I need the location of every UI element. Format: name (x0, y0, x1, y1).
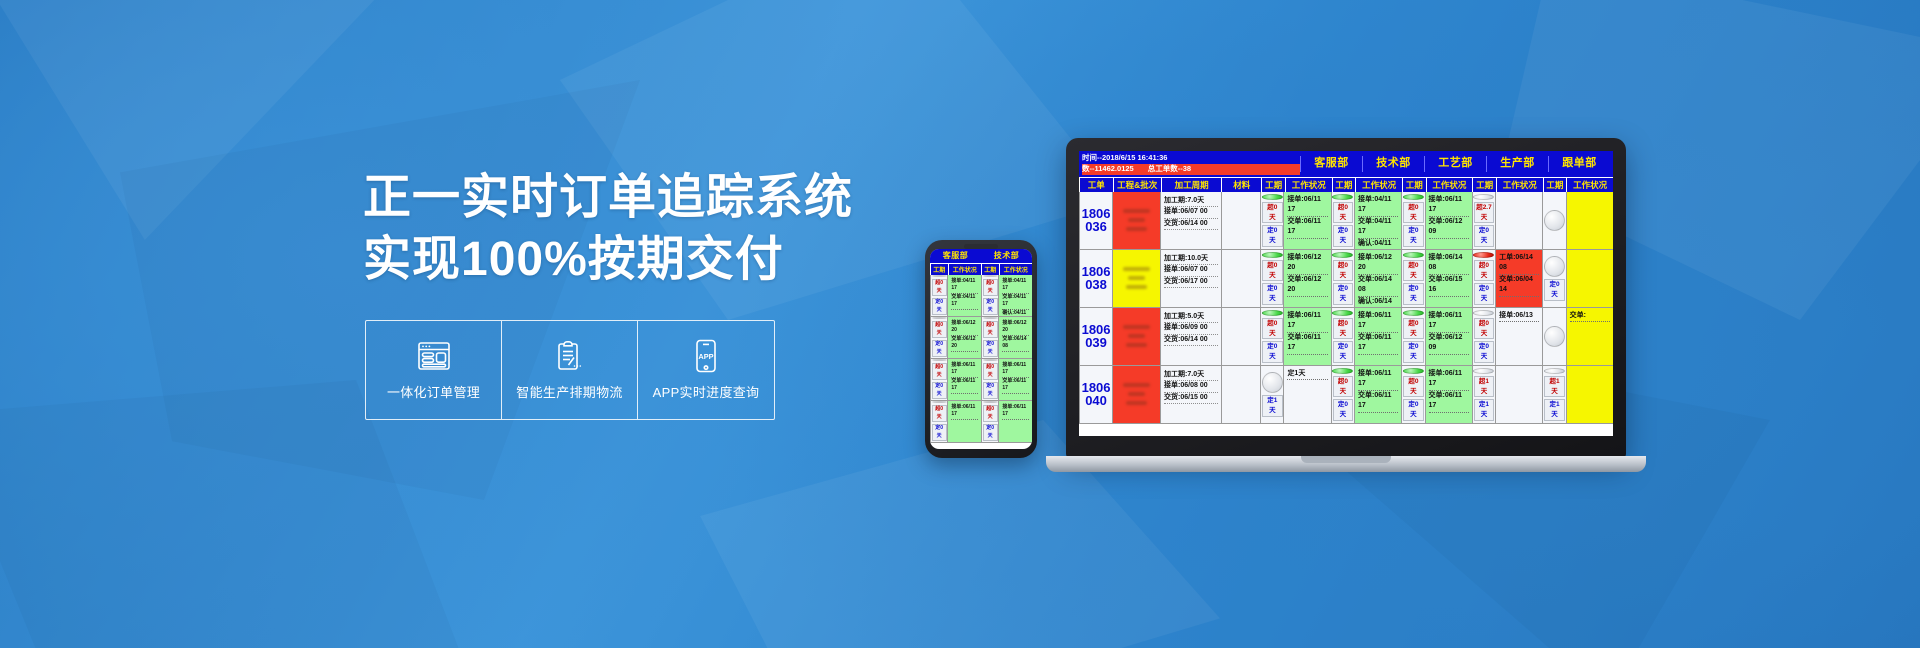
duration-cell[interactable]: 超0天定0天 (1260, 308, 1283, 365)
status-cell[interactable]: 接单:06/13 (1495, 308, 1542, 365)
redacted-line (1123, 209, 1149, 213)
phone-mockup: 客服部技术部 工期工作状况工期工作状况 超0天定0天接单:04/11 17交单:… (925, 240, 1037, 458)
status-indicator-g (983, 317, 998, 319)
overdue-badge: 超0天 (1333, 260, 1353, 282)
planned-badge: 定0天 (1333, 341, 1353, 363)
status-cell[interactable]: 接单:04/11 17交单:04/11 17确认:04/11 17 (998, 275, 1032, 316)
status-cell[interactable]: 工单:06/14 08交单:06/04 14 (1495, 250, 1542, 307)
cycle-line: 接单:06/07 00 (1164, 265, 1218, 277)
mobile-app-icon: APP (694, 339, 718, 373)
planned-badge: 定0天 (983, 424, 998, 441)
status-indicator-g (983, 401, 998, 403)
overdue-badge: 超0天 (1333, 376, 1353, 398)
status-cell[interactable]: 接单:06/11 17 (998, 401, 1032, 442)
department-title: 生产部 (1486, 156, 1548, 172)
overdue-badge: 超0天 (1262, 260, 1282, 282)
status-line: 交单:06/12 09 (1429, 333, 1469, 355)
status-line: 接单:06/12 20 (1358, 253, 1398, 275)
status-indicator-g (1262, 310, 1283, 316)
phone-body: 客服部技术部 工期工作状况工期工作状况 超0天定0天接单:04/11 17交单:… (925, 240, 1037, 458)
cycle-cell[interactable]: 加工期:5.0天接单:06/09 00交货:06/14 00 (1160, 308, 1221, 365)
project-name-redacted (1118, 261, 1156, 295)
cycle-line: 加工期:10.0天 (1164, 254, 1218, 266)
duration-cell[interactable]: 超0天定0天 (981, 275, 998, 316)
status-line: 交单:06/14 08 (1358, 275, 1398, 297)
status-cell[interactable] (1495, 192, 1542, 249)
status-line: 交单:04/11 17 (1358, 217, 1398, 239)
duration-cell[interactable]: 超0天定0天 (930, 401, 947, 442)
project-batch-cell[interactable] (1112, 192, 1160, 249)
overdue-badge: 超1天 (1474, 376, 1494, 398)
phone-column-header-duration: 工期 (930, 264, 948, 275)
planned-badge: 定0天 (1262, 283, 1282, 305)
redacted-line (1126, 285, 1148, 289)
status-line: 交单:06/11 17 (1287, 217, 1327, 239)
material-cell[interactable] (1221, 250, 1261, 307)
planned-badge: 定0天 (1403, 283, 1423, 305)
overdue-badge: 超0天 (1262, 318, 1282, 340)
department-title: 客服部 (1300, 156, 1362, 172)
cycle-line: 加工期:7.0天 (1164, 196, 1218, 208)
overdue-badge: 超0天 (983, 363, 998, 380)
status-indicator-g (1332, 194, 1353, 200)
status-line: 确认:06/14 08 (1358, 297, 1398, 307)
work-order-suffix: 038 (1085, 278, 1107, 292)
duration-cell[interactable]: 超0天定0天 (1331, 192, 1354, 249)
status-cell[interactable]: 接单:04/11 17交单:04/11 17确认:04/11 17 (1354, 192, 1401, 249)
table-body: 1806036加工期:7.0天接单:06/07 00交货:06/14 00超0天… (1079, 192, 1613, 436)
duration-cell[interactable]: 超0天定0天 (1401, 192, 1424, 249)
planned-badge: 定0天 (1333, 283, 1353, 305)
column-header-row: 工单工程&批次加工周期材料工期工作状况工期工作状况工期工作状况工期工作状况工期工… (1079, 177, 1613, 192)
status-cell[interactable] (1495, 366, 1542, 423)
duration-cell[interactable]: 定1天 (1260, 366, 1283, 423)
status-line: 接单:04/11 17 (1002, 278, 1029, 294)
phone-column-header-status: 工作状况 (999, 264, 1033, 275)
status-line: 交单:06/12 20 (1287, 275, 1327, 297)
column-header-material: 材料 (1221, 178, 1261, 192)
phone-dashboard: 客服部技术部 工期工作状况工期工作状况 超0天定0天接单:04/11 17交单:… (930, 249, 1032, 449)
department-title: 跟单部 (1548, 156, 1610, 172)
planned-badge: 定0天 (1403, 341, 1423, 363)
overdue-badge: 超0天 (932, 279, 947, 296)
phone-table-row[interactable]: 超0天定0天接单:04/11 17交单:04/11 17超0天定0天接单:04/… (930, 275, 1032, 317)
cycle-line: 接单:06/08 00 (1164, 381, 1218, 393)
status-indicator-w (1473, 310, 1494, 316)
laptop-lid: 时间--2018/6/15 16:41:36 数--11462.0125 总工单… (1066, 138, 1626, 458)
cycle-line: 加工期:7.0天 (1164, 370, 1218, 382)
redacted-line (1123, 383, 1149, 387)
overdue-badge: 超0天 (1403, 318, 1423, 340)
work-order-prefix: 1806 (1082, 381, 1111, 395)
overdue-badge: 超0天 (1474, 318, 1494, 340)
status-cell[interactable]: 交单: (1566, 308, 1613, 365)
status-line: 交单:06/11 17 (1287, 333, 1327, 355)
duration-cell[interactable]: 超0天定0天 (930, 275, 947, 316)
app-badge-text: APP (698, 352, 713, 361)
status-cell[interactable]: 接单:06/11 17交单:06/12 09 (1425, 192, 1472, 249)
status-line: 接单:06/12 20 (951, 320, 978, 336)
redacted-line (1128, 218, 1145, 222)
order-tracking-dashboard: 时间--2018/6/15 16:41:36 数--11462.0125 总工单… (1079, 151, 1613, 436)
feature-label: APP实时进度查询 (653, 382, 760, 401)
column-header-status: 工作状况 (1496, 178, 1543, 192)
feature-item-smart-scheduling[interactable]: 智能生产排期物流 (502, 321, 638, 419)
status-cell[interactable]: 接单:06/12 20交单:06/14 08确认:06/14 08 (1354, 250, 1401, 307)
redacted-line (1126, 343, 1148, 347)
status-cell[interactable]: 接单:06/12 20交单:06/12 20 (947, 317, 981, 358)
overdue-badge: 超0天 (983, 279, 998, 296)
status-indicator-g (1403, 310, 1424, 316)
status-cell[interactable]: 接单:06/11 17交单:06/11 17 (1283, 192, 1330, 249)
cycle-line: 交货:06/15 00 (1164, 393, 1218, 405)
status-line: 接单:06/11 17 (1002, 362, 1029, 378)
overdue-badge: 超0天 (1333, 318, 1353, 340)
duration-cell[interactable]: 超0天定0天 (981, 317, 998, 358)
planned-badge: 定1天 (1474, 399, 1494, 421)
status-cell[interactable]: 接单:06/11 17交单:06/11 17 (1283, 308, 1330, 365)
status-line: 接单:06/11 17 (1358, 311, 1398, 333)
status-line: 交单:06/11 17 (1429, 391, 1469, 413)
phone-table-row[interactable]: 超0天定0天接单:06/11 17交单:06/11 17超0天定0天接单:06/… (930, 359, 1032, 401)
planned-badge: 定0天 (983, 382, 998, 399)
duration-cell[interactable]: 超0天定0天 (1331, 366, 1354, 423)
status-cell[interactable]: 接单:06/11 17 (947, 401, 981, 442)
status-line: 交单:06/11 17 (1358, 391, 1398, 413)
status-indicator-g (1403, 368, 1424, 374)
status-cell[interactable]: 接单:06/12 20交单:06/12 20 (1283, 250, 1330, 307)
planned-badge: 定0天 (932, 382, 947, 399)
status-cell[interactable] (1566, 366, 1613, 423)
status-indicator-y (1544, 256, 1565, 277)
status-cell[interactable] (1566, 250, 1613, 307)
status-indicator-g (1332, 310, 1353, 316)
status-line: 接单:06/11 17 (1287, 195, 1327, 217)
column-header-duration: 工期 (1332, 178, 1356, 192)
status-cell[interactable] (1566, 192, 1613, 249)
overdue-badge: 超0天 (932, 363, 947, 380)
phone-table-row[interactable]: 超0天定0天接单:06/12 20交单:06/12 20超0天定0天接单:06/… (930, 317, 1032, 359)
phone-column-header-duration: 工期 (981, 264, 999, 275)
project-batch-cell[interactable] (1112, 366, 1160, 423)
redacted-line (1126, 227, 1148, 231)
cycle-line: 接单:06/09 00 (1164, 323, 1218, 335)
planned-badge: 定1天 (1544, 399, 1564, 421)
status-line: 接单:06/12 20 (1002, 320, 1029, 336)
status-line: 接单:06/11 17 (1429, 369, 1469, 391)
work-order-cell[interactable]: 1806039 (1079, 308, 1112, 365)
promo-banner: 正一实时订单追踪系统 实现100%按期交付 一体化订单管理 (0, 0, 1920, 648)
work-order-cell[interactable]: 1806038 (1079, 250, 1112, 307)
status-line: 交单:06/15 16 (1429, 275, 1469, 297)
status-indicator-y (1544, 326, 1565, 347)
department-row: 客服部技术部工艺部生产部跟单部 (1300, 153, 1610, 175)
work-order-prefix: 1806 (1082, 207, 1111, 221)
redacted-line (1128, 334, 1145, 338)
duration-cell[interactable]: 超1天定1天 (1472, 366, 1495, 423)
cycle-cell[interactable]: 加工期:7.0天接单:06/08 00交货:06/15 00 (1160, 366, 1221, 423)
project-name-redacted (1118, 319, 1156, 353)
redacted-line (1123, 267, 1149, 271)
status-line: 交单:04/11 17 (1002, 294, 1029, 310)
duration-cell[interactable]: 超0天定0天 (981, 401, 998, 442)
status-line: 交单:06/11 17 (951, 378, 978, 394)
planned-badge: 定0天 (1333, 399, 1353, 421)
cycle-line: 接单:06/07 00 (1164, 207, 1218, 219)
duration-cell[interactable]: 超0天定0天 (981, 359, 998, 400)
duration-cell[interactable]: 超0天定0天 (1260, 250, 1283, 307)
status-indicator-g (932, 317, 947, 319)
column-header-work_order: 工单 (1079, 178, 1113, 192)
planned-badge: 定0天 (1262, 225, 1282, 247)
redacted-line (1128, 392, 1145, 396)
feature-list: 一体化订单管理 智能生产排期物流 (365, 320, 775, 420)
project-name-redacted (1118, 377, 1156, 411)
headline-line-1: 正一实时订单追踪系统 (363, 168, 883, 228)
project-batch-cell[interactable] (1112, 250, 1160, 307)
duration-cell[interactable] (1542, 192, 1565, 249)
cycle-cell[interactable]: 加工期:10.0天接单:06/07 00交货:06/17 00 (1160, 250, 1221, 307)
status-indicator-w (1262, 372, 1283, 393)
planned-badge: 定0天 (932, 424, 947, 441)
status-cell[interactable]: 接单:04/11 17交单:04/11 17 (947, 275, 981, 316)
status-indicator-g (1262, 252, 1283, 258)
duration-cell[interactable]: 超0天定0天 (930, 359, 947, 400)
overdue-badge: 超0天 (932, 405, 947, 422)
planned-badge: 定0天 (1474, 341, 1494, 363)
table-row[interactable]: 1806038加工期:10.0天接单:06/07 00交货:06/17 00超0… (1079, 250, 1613, 308)
status-indicator-g (983, 359, 998, 361)
status-indicator-r (1473, 252, 1494, 258)
status-indicator-g (1332, 252, 1353, 258)
phone-department-title: 技术部 (981, 250, 1032, 262)
cycle-line: 加工期:5.0天 (1164, 312, 1218, 324)
status-line: 接单:06/11 17 (1358, 369, 1398, 391)
status-line: 交单:06/11 17 (1358, 333, 1398, 355)
laptop-mockup: 时间--2018/6/15 16:41:36 数--11462.0125 总工单… (1046, 138, 1646, 498)
status-line: 接单:04/11 17 (1358, 195, 1398, 217)
status-cell[interactable]: 接单:06/11 17交单:06/11 17 (947, 359, 981, 400)
status-line: 接单:06/11 17 (1002, 404, 1029, 420)
status-cell[interactable]: 接单:06/14 08交单:06/15 16 (1425, 250, 1472, 307)
planned-badge: 定0天 (932, 298, 947, 315)
column-header-duration: 工期 (1261, 178, 1285, 192)
work-order-suffix: 036 (1085, 220, 1107, 234)
duration-cell[interactable]: 超0天定0天 (1401, 366, 1424, 423)
status-line: 交单:06/11 17 (1002, 378, 1029, 394)
status-cell[interactable]: 接单:06/11 17交单:06/12 09 (1425, 308, 1472, 365)
status-line: 定1天 (1287, 369, 1327, 381)
feature-label: 一体化订单管理 (387, 382, 480, 401)
clipboard-icon (555, 339, 585, 373)
hero-copy: 正一实时订单追踪系统 实现100%按期交付 (363, 168, 883, 291)
cycle-line: 交货:06/14 00 (1164, 219, 1218, 231)
status-line: 接单:06/11 17 (1429, 311, 1469, 333)
planned-badge: 定0天 (1333, 225, 1353, 247)
work-order-prefix: 1806 (1082, 265, 1111, 279)
status-line: 交单:06/14 08 (1002, 336, 1029, 352)
phone-table-row[interactable]: 超0天定0天接单:06/11 17超0天定0天接单:06/11 17 (930, 401, 1032, 443)
feature-label: 智能生产排期物流 (516, 382, 622, 401)
duration-cell[interactable]: 超0天定0天 (1260, 192, 1283, 249)
department-title: 工艺部 (1424, 156, 1486, 172)
work-order-suffix: 039 (1085, 336, 1107, 350)
overdue-badge: 超0天 (1333, 202, 1353, 224)
planned-badge: 定1天 (1262, 395, 1282, 417)
status-cell[interactable]: 接单:06/11 17交单:06/11 17 (998, 359, 1032, 400)
overdue-badge: 超0天 (932, 321, 947, 338)
status-line: 接单:06/11 17 (1287, 311, 1327, 333)
column-header-status: 工作状况 (1285, 178, 1332, 192)
work-order-prefix: 1806 (1082, 323, 1111, 337)
overdue-badge: 超0天 (1403, 260, 1423, 282)
project-name-redacted (1118, 203, 1156, 237)
status-cell[interactable]: 接单:06/11 17交单:06/11 17 (1354, 366, 1401, 423)
column-header-duration: 工期 (1543, 178, 1567, 192)
status-line: 交单: (1570, 311, 1610, 323)
column-header-cycle: 加工周期 (1161, 178, 1221, 192)
column-header-duration: 工期 (1472, 178, 1496, 192)
status-cell[interactable]: 定1天 (1283, 366, 1330, 423)
redacted-line (1123, 325, 1149, 329)
phone-column-header-status: 工作状况 (948, 264, 982, 275)
planned-badge: 定0天 (1403, 225, 1423, 247)
status-indicator-y (1544, 210, 1565, 231)
overdue-badge: 超0天 (1403, 202, 1423, 224)
status-indicator-y (1544, 368, 1565, 374)
material-cell[interactable] (1221, 308, 1261, 365)
material-cell[interactable] (1221, 192, 1261, 249)
status-indicator-g (1262, 194, 1283, 200)
duration-cell[interactable]: 定0天 (1542, 250, 1565, 307)
overdue-badge: 超0天 (1474, 260, 1494, 282)
status-line: 接单:04/11 17 (951, 278, 978, 294)
duration-cell[interactable]: 超2.7天定0天 (1472, 192, 1495, 249)
duration-cell[interactable]: 超0天定0天 (1472, 308, 1495, 365)
planned-badge: 定0天 (1544, 279, 1564, 301)
work-order-cell[interactable]: 1806040 (1079, 366, 1112, 423)
dashboard-time: 时间--2018/6/15 16:41:36 (1082, 153, 1300, 164)
phone-department-row: 客服部技术部 (930, 250, 1032, 262)
column-header-status: 工作状况 (1355, 178, 1402, 192)
table-row[interactable]: 1806040加工期:7.0天接单:06/08 00交货:06/15 00定1天… (1079, 366, 1613, 424)
status-line: 交单:06/04 14 (1499, 275, 1539, 297)
status-indicator-g (932, 359, 947, 361)
work-order-cell[interactable]: 1806036 (1079, 192, 1112, 249)
dashboard-meta: 时间--2018/6/15 16:41:36 数--11462.0125 总工单… (1082, 153, 1300, 175)
phone-dashboard-dept-header: 客服部技术部 (930, 249, 1032, 263)
status-line: 交单:04/11 17 (951, 294, 978, 310)
phone-department-title: 客服部 (930, 250, 981, 262)
cycle-cell[interactable]: 加工期:7.0天接单:06/07 00交货:06/14 00 (1160, 192, 1221, 249)
overdue-badge: 超0天 (983, 321, 998, 338)
duration-cell[interactable]: 超0天定0天 (930, 317, 947, 358)
column-header-status: 工作状况 (1426, 178, 1473, 192)
planned-badge: 定0天 (932, 340, 947, 357)
phone-table-body: 超0天定0天接单:04/11 17交单:04/11 17超0天定0天接单:04/… (930, 275, 1032, 449)
redacted-line (1126, 401, 1148, 405)
column-header-project: 工程&批次 (1113, 178, 1162, 192)
cycle-line: 交货:06/14 00 (1164, 335, 1218, 347)
feature-item-order-management[interactable]: 一体化订单管理 (366, 321, 502, 419)
planned-badge: 定0天 (1474, 225, 1494, 247)
cycle-line: 交货:06/17 00 (1164, 277, 1218, 289)
duration-cell[interactable]: 超0天定0天 (1331, 250, 1354, 307)
table-row[interactable]: 1806036加工期:7.0天接单:06/07 00交货:06/14 00超0天… (1079, 192, 1613, 250)
overdue-badge: 超0天 (1262, 202, 1282, 224)
department-title: 技术部 (1362, 156, 1424, 172)
dashboard-count: 数--11462.0125 (1082, 164, 1134, 175)
status-line: 交单:06/12 20 (951, 336, 978, 352)
status-indicator-w (1473, 368, 1494, 374)
phone-column-header: 工期工作状况工期工作状况 (930, 263, 1032, 275)
headline-line-2: 实现100%按期交付 (363, 230, 883, 290)
duration-cell[interactable]: 超0天定0天 (1472, 250, 1495, 307)
planned-badge: 定0天 (983, 340, 998, 357)
status-line: 接单:06/11 17 (951, 404, 978, 420)
status-indicator-g (1403, 194, 1424, 200)
status-line: 接单:06/13 (1499, 311, 1539, 323)
status-cell[interactable]: 接单:06/11 17交单:06/11 17 (1354, 308, 1401, 365)
status-cell[interactable]: 接单:06/11 17交单:06/11 17 (1425, 366, 1472, 423)
overdue-badge: 超2.7天 (1474, 202, 1494, 224)
status-indicator-g (1332, 368, 1353, 374)
planned-badge: 定0天 (983, 298, 998, 315)
status-indicator-w (1473, 194, 1494, 200)
dashboard-total-orders: 总工单数--38 (1148, 164, 1191, 175)
status-line: 接单:06/11 17 (951, 362, 978, 378)
table-row[interactable]: 1806039加工期:5.0天接单:06/09 00交货:06/14 00超0天… (1079, 308, 1613, 366)
material-cell[interactable] (1221, 366, 1261, 423)
duration-cell[interactable]: 超0天定0天 (1401, 250, 1424, 307)
planned-badge: 定0天 (1262, 341, 1282, 363)
status-line: 工单:06/14 08 (1499, 253, 1539, 275)
status-line: 确认:04/11 17 (1358, 239, 1398, 249)
status-line: 接单:06/14 08 (1429, 253, 1469, 275)
duration-cell[interactable]: 超0天定0天 (1331, 308, 1354, 365)
column-header-duration: 工期 (1402, 178, 1426, 192)
status-indicator-g (1403, 252, 1424, 258)
status-line: 交单:06/12 09 (1429, 217, 1469, 239)
feature-item-app-tracking[interactable]: APP APP实时进度查询 (638, 321, 774, 419)
phone-earpiece (964, 244, 998, 249)
laptop-trackpad-notch (1301, 456, 1391, 463)
duration-cell[interactable]: 超0天定0天 (1401, 308, 1424, 365)
duration-cell[interactable] (1542, 308, 1565, 365)
dashboard-header: 时间--2018/6/15 16:41:36 数--11462.0125 总工单… (1079, 151, 1613, 177)
status-line: 确认:04/11 17 (1002, 310, 1029, 316)
status-line: 接单:06/12 20 (1287, 253, 1327, 275)
status-cell[interactable]: 接单:06/12 20交单:06/14 08 (998, 317, 1032, 358)
planned-badge: 定0天 (1474, 283, 1494, 305)
overdue-badge: 超0天 (983, 405, 998, 422)
work-order-suffix: 040 (1085, 394, 1107, 408)
column-header-status: 工作状况 (1566, 178, 1613, 192)
project-batch-cell[interactable] (1112, 308, 1160, 365)
redacted-line (1128, 276, 1145, 280)
window-list-icon (417, 339, 451, 373)
status-line: 接单:06/11 17 (1429, 195, 1469, 217)
status-indicator-g (932, 275, 947, 277)
planned-badge: 定0天 (1403, 399, 1423, 421)
duration-cell[interactable]: 超1天定1天 (1542, 366, 1565, 423)
status-indicator-g (983, 275, 998, 277)
phone-screen[interactable]: 客服部技术部 工期工作状况工期工作状况 超0天定0天接单:04/11 17交单:… (930, 249, 1032, 449)
overdue-badge: 超0天 (1403, 376, 1423, 398)
status-indicator-g (932, 401, 947, 403)
laptop-screen[interactable]: 时间--2018/6/15 16:41:36 数--11462.0125 总工单… (1079, 151, 1613, 436)
overdue-badge: 超1天 (1544, 376, 1564, 398)
